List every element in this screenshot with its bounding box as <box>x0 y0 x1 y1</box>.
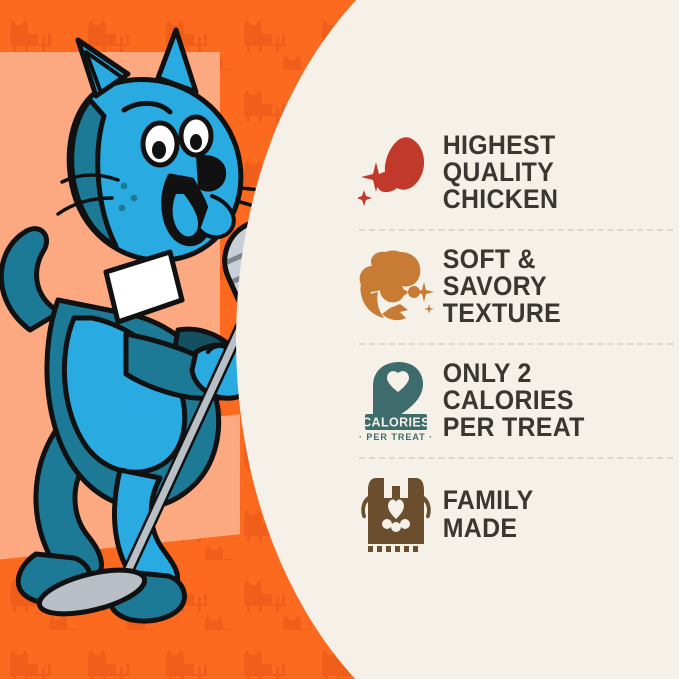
feature-line: FAMILY <box>443 487 534 514</box>
badge-sublabel: · PER TREAT · <box>359 432 433 442</box>
chicken-drumstick-icon <box>353 127 439 219</box>
feature-list: HIGHEST QUALITY CHICKEN <box>345 0 679 679</box>
feature-line: CHICKEN <box>443 186 558 213</box>
feature-label-highest-quality-chicken: HIGHEST QUALITY CHICKEN <box>439 132 558 214</box>
feature-item-family-made: FAMILY MADE <box>345 459 679 571</box>
feature-line: CALORIES <box>443 387 585 414</box>
feature-line: QUALITY <box>443 159 558 186</box>
badge-label: CALORIES <box>362 415 430 429</box>
feature-label-only-2-calories: ONLY 2 CALORIES PER TREAT <box>439 360 585 442</box>
feature-divider <box>359 229 673 231</box>
product-feature-graphic: HIGHEST QUALITY CHICKEN <box>0 0 679 679</box>
feature-item-highest-quality-chicken: HIGHEST QUALITY CHICKEN <box>345 117 679 229</box>
feature-divider <box>359 343 673 345</box>
feature-line: SOFT & <box>443 246 561 273</box>
feature-item-only-2-calories: CALORIES · PER TREAT · ONLY 2 CALORIES P… <box>345 345 679 457</box>
feature-label-soft-savory-texture: SOFT & SAVORY TEXTURE <box>439 246 561 328</box>
feature-line: ONLY 2 <box>443 360 585 387</box>
feature-line: TEXTURE <box>443 300 561 327</box>
feature-line: PER TREAT <box>443 414 585 441</box>
feature-label-family-made: FAMILY MADE <box>439 487 533 542</box>
feature-line: MADE <box>443 515 534 542</box>
cat-paw-fur-icon <box>353 241 439 333</box>
apron-with-heart-paw-icon <box>353 469 439 561</box>
feature-line: SAVORY <box>443 273 561 300</box>
feature-item-soft-savory-texture: SOFT & SAVORY TEXTURE <box>345 231 679 343</box>
illustration-panel <box>0 0 360 679</box>
feature-divider <box>359 457 673 459</box>
feature-line: HIGHEST <box>443 132 558 159</box>
two-calories-badge-icon: CALORIES · PER TREAT · <box>353 355 439 447</box>
